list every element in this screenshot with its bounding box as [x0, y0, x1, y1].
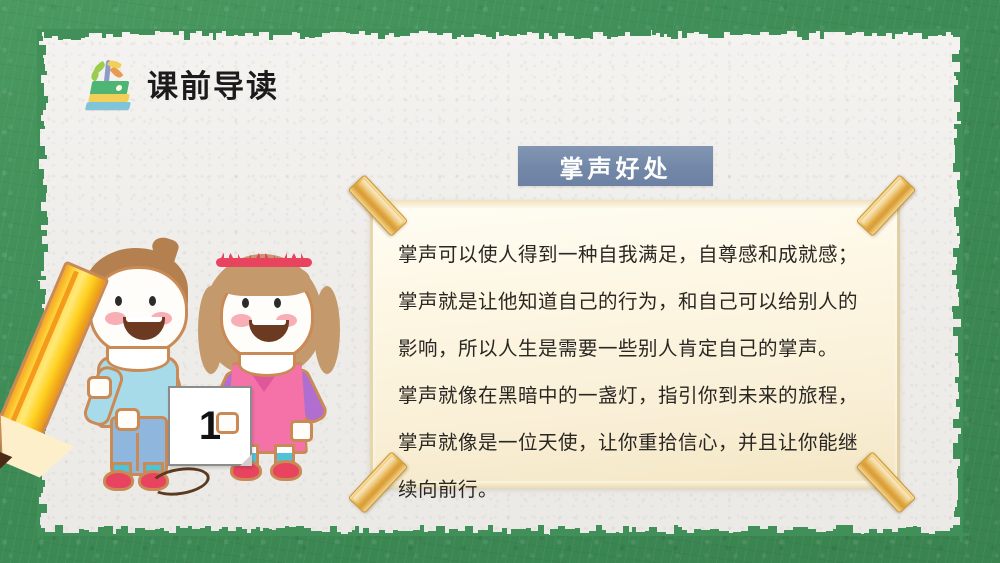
page-title: 课前导读 [147, 71, 279, 102]
number-card-fold [240, 454, 252, 466]
number-card: 1 [168, 386, 252, 466]
girl-hand-left [216, 412, 239, 434]
section-banner: 掌声好处 [518, 146, 713, 186]
girl-teeth [252, 320, 286, 325]
children-illustration: 1 [62, 236, 352, 492]
girl-with-number-card: 1 [194, 244, 344, 484]
page-header: 课前导读 [84, 58, 279, 114]
leaf-icon [110, 65, 124, 79]
girl-eye-right [274, 298, 281, 308]
book-middle-icon [88, 94, 130, 102]
stacked-books-icon [84, 58, 134, 114]
girl-headband [216, 258, 312, 267]
slide-root: 课前导读 掌声好处 掌声可以使人得到一种自我满足，自尊感和成就感；掌声就是让他知… [0, 0, 1000, 563]
book-bottom-icon [85, 102, 131, 110]
scroll-body-text: 掌声可以使人得到一种自我满足，自尊感和成就感；掌声就是让他知道自己的行为，和自己… [398, 232, 876, 514]
torn-edge-bottom [38, 525, 962, 536]
girl-hand-right [290, 420, 313, 442]
girl-eye-left [242, 298, 249, 308]
torn-edge-top [38, 29, 962, 40]
girl-bangs [218, 262, 310, 296]
girl-collar [238, 352, 296, 377]
boy-hand-lower [115, 408, 140, 431]
girl-hair-side-right [314, 286, 340, 374]
torn-edge-right [952, 30, 963, 535]
section-banner-label: 掌声好处 [560, 149, 672, 184]
boy-teeth [126, 317, 162, 322]
book-top-icon [90, 81, 130, 95]
boy-hand-upper [87, 376, 112, 399]
girl-hair-side-left [198, 286, 224, 374]
boy-eye-left [115, 296, 122, 306]
boy-eye-right [149, 296, 156, 306]
boy-shoe-left [103, 470, 134, 491]
girl-shoe-right [270, 460, 302, 481]
